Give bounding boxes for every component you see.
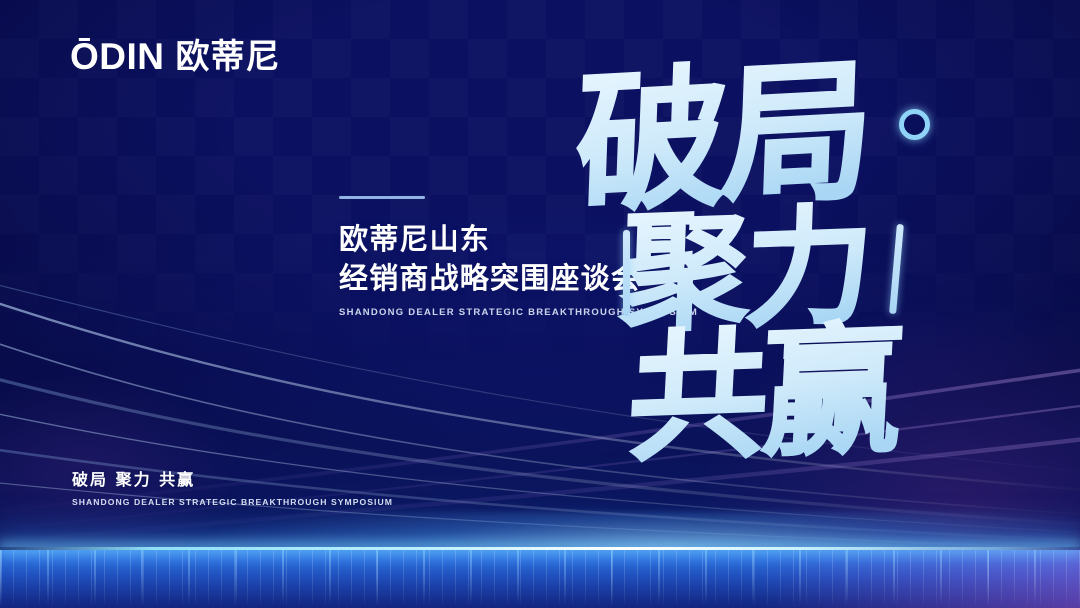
event-banner: ŌDIN 欧蒂尼 欧蒂尼山东 经销商战略突围座谈会 SHANDONG DEALE… <box>0 0 1080 608</box>
hero-degree-accent-icon <box>899 109 930 140</box>
title-divider-rule <box>339 196 425 199</box>
footer-caption-chinese: 破局 聚力 共赢 <box>72 466 393 490</box>
floor-highlight-streaks <box>0 550 1080 608</box>
footer-caption-english: SHANDONG DEALER STRATEGIC BREAKTHROUGH S… <box>72 497 393 507</box>
brand-logo-latin: ŌDIN <box>70 38 165 75</box>
brand-logo: ŌDIN 欧蒂尼 <box>70 38 281 75</box>
horizon-light-line <box>0 547 1080 550</box>
footer-caption: 破局 聚力 共赢 SHANDONG DEALER STRATEGIC BREAK… <box>72 466 393 507</box>
hero-row-3: 共赢 <box>624 309 904 482</box>
brand-logo-chinese: 欧蒂尼 <box>176 40 281 74</box>
hero-calligraphy: 破局 聚力 共赢 <box>566 52 1006 472</box>
hero-bar-left <box>623 230 630 316</box>
